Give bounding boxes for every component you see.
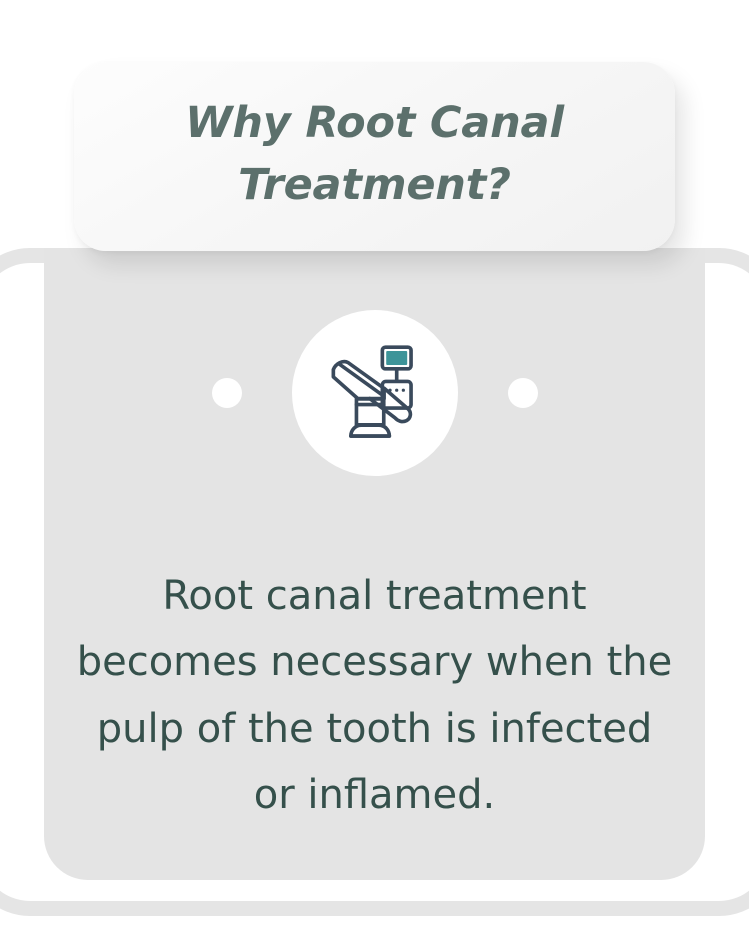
card-body-wrapper: Root canal treatment becomes necessary w… (44, 563, 705, 829)
left-decorative-dot (212, 378, 242, 408)
icon-row (44, 310, 705, 476)
title-pill: Why Root Canal Treatment? (74, 62, 675, 251)
info-card: Root canal treatment becomes necessary w… (44, 248, 705, 880)
page-root: Root canal treatment becomes necessary w… (0, 0, 749, 930)
icon-circle (292, 310, 458, 476)
card-body-text: Root canal treatment becomes necessary w… (75, 563, 675, 829)
dental-chair-icon (319, 337, 431, 449)
right-decorative-dot (508, 378, 538, 408)
card-title: Why Root Canal Treatment? (118, 93, 631, 215)
